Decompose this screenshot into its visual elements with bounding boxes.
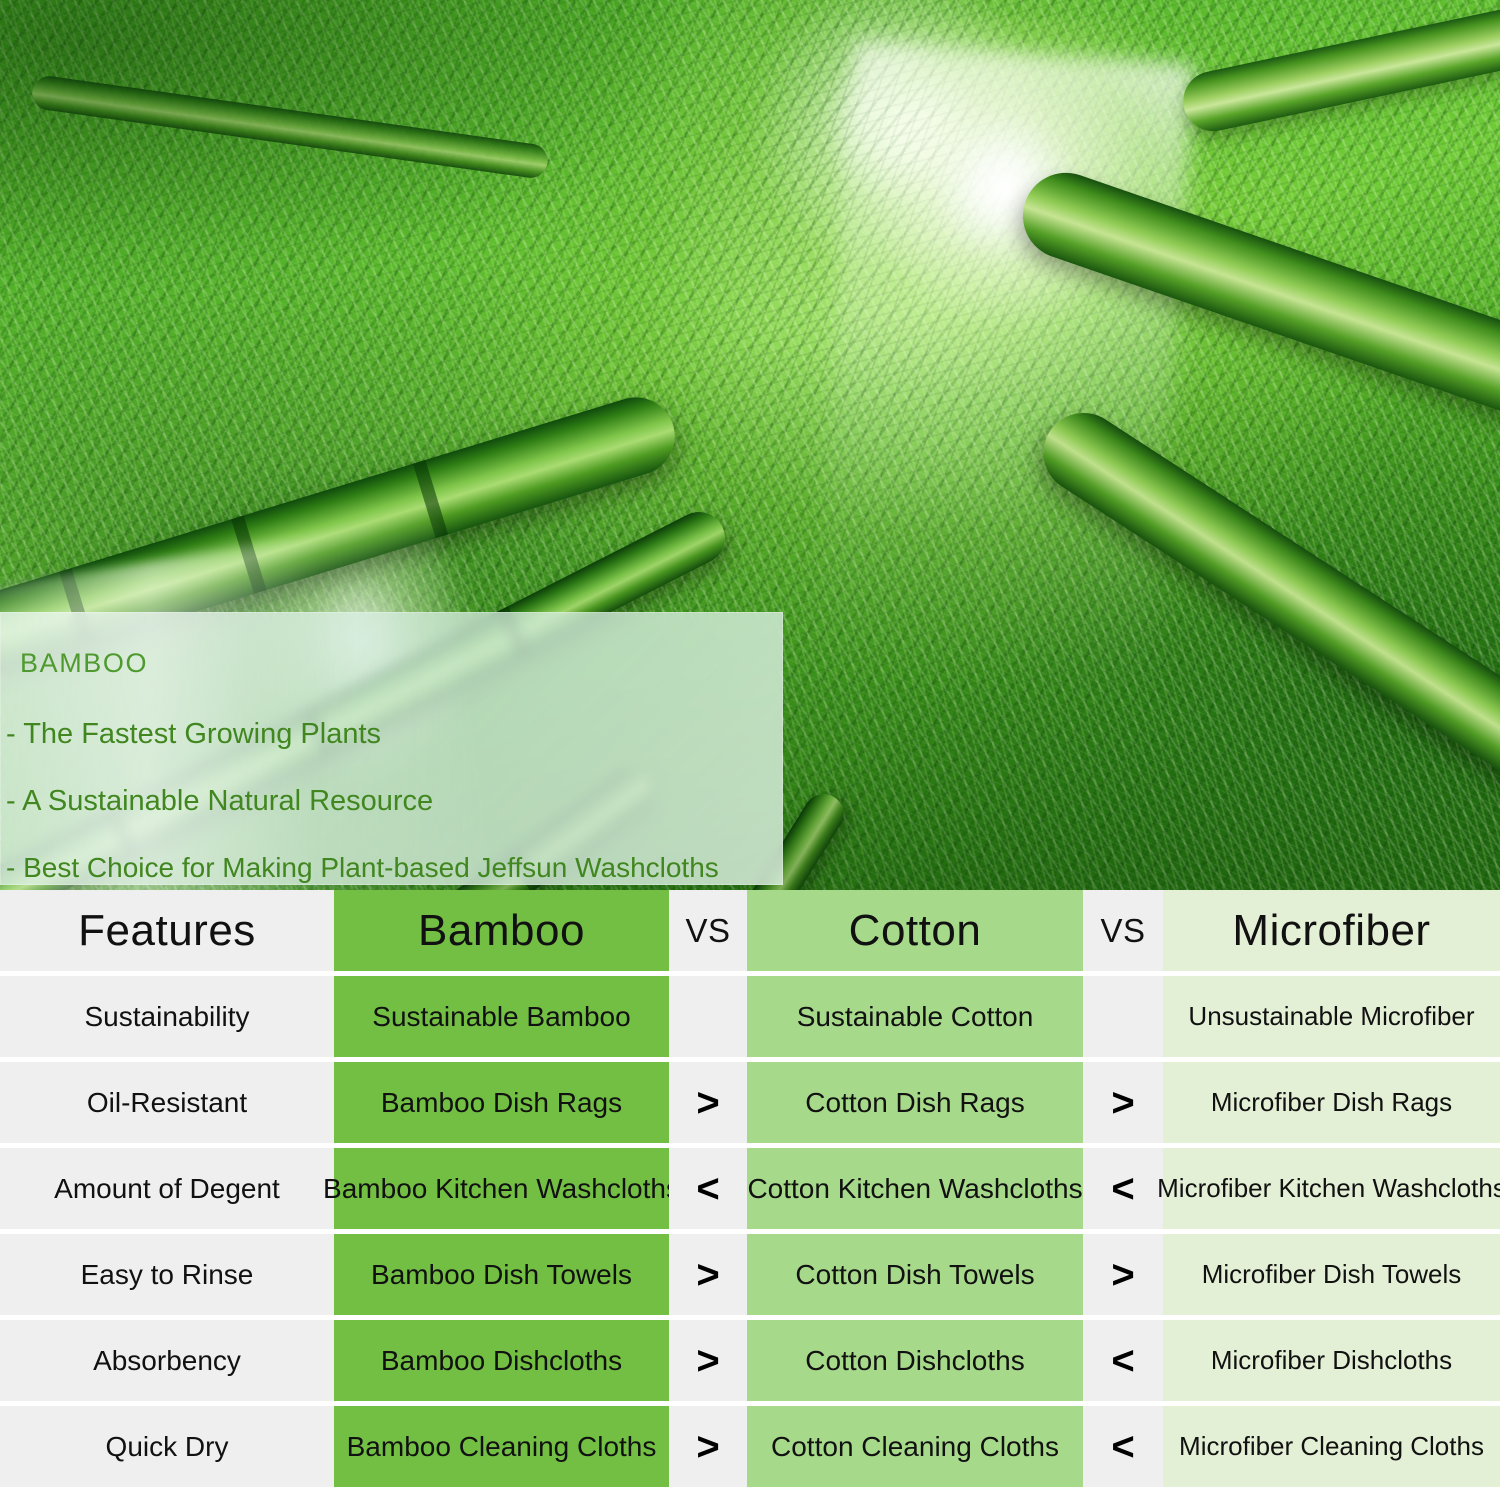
bamboo-forest-photo: BAMBOO - The Fastest Growing Plants - A … <box>0 0 1500 890</box>
cell-operator-1: > <box>669 1320 747 1401</box>
table-row: Amount of Degent Bamboo Kitchen Washclot… <box>0 1148 1500 1229</box>
table-header-row: Features Bamboo VS Cotton VS Microfiber <box>0 890 1500 971</box>
cell-bamboo: Bamboo Cleaning Cloths <box>334 1406 669 1487</box>
comparison-table: Features Bamboo VS Cotton VS Microfiber … <box>0 890 1500 1500</box>
microfiber-value: Microfiber Kitchen Washcloths <box>1157 1173 1500 1204</box>
table-row: Sustainability Sustainable Bamboo Sustai… <box>0 976 1500 1057</box>
header-label-cotton: Cotton <box>849 906 982 956</box>
header-label-vs-2: VS <box>1100 912 1145 950</box>
cell-operator-2 <box>1083 976 1163 1057</box>
bamboo-value: Bamboo Dish Rags <box>381 1087 622 1119</box>
comparison-operator-icon: > <box>1111 1255 1134 1295</box>
cell-bamboo: Bamboo Dishcloths <box>334 1320 669 1401</box>
feature-label: Absorbency <box>93 1345 241 1377</box>
cell-bamboo: Sustainable Bamboo <box>334 976 669 1057</box>
cell-feature: Sustainability <box>0 976 334 1057</box>
cell-microfiber: Microfiber Cleaning Cloths <box>1163 1406 1500 1487</box>
header-label-microfiber: Microfiber <box>1232 906 1430 956</box>
cotton-value: Cotton Dishcloths <box>805 1345 1024 1377</box>
overlay-title: BAMBOO <box>20 648 148 679</box>
header-cell-microfiber: Microfiber <box>1163 890 1500 971</box>
cotton-value: Cotton Cleaning Cloths <box>771 1431 1059 1463</box>
cell-microfiber: Unsustainable Microfiber <box>1163 976 1500 1057</box>
cell-operator-1: > <box>669 1406 747 1487</box>
cell-microfiber: Microfiber Dish Towels <box>1163 1234 1500 1315</box>
feature-label: Sustainability <box>85 1001 250 1033</box>
cell-operator-1: > <box>669 1234 747 1315</box>
table-row: Oil-Resistant Bamboo Dish Rags > Cotton … <box>0 1062 1500 1143</box>
product-infographic: BAMBOO - The Fastest Growing Plants - A … <box>0 0 1500 1500</box>
cell-operator-1 <box>669 976 747 1057</box>
header-label-vs-1: VS <box>685 912 730 950</box>
cell-operator-2: < <box>1083 1320 1163 1401</box>
cotton-value: Cotton Dish Towels <box>795 1259 1034 1291</box>
comparison-operator-icon: > <box>696 1255 719 1295</box>
overlay-bullet: - A Sustainable Natural Resource <box>2 787 780 816</box>
cell-feature: Easy to Rinse <box>0 1234 334 1315</box>
cell-operator-2: < <box>1083 1406 1163 1487</box>
table-row: Easy to Rinse Bamboo Dish Towels > Cotto… <box>0 1234 1500 1315</box>
comparison-operator-icon: > <box>696 1427 719 1467</box>
header-label-features: Features <box>78 906 256 956</box>
comparison-operator-icon: < <box>1111 1169 1134 1209</box>
bamboo-value: Bamboo Cleaning Cloths <box>347 1431 657 1463</box>
bamboo-info-overlay: BAMBOO - The Fastest Growing Plants - A … <box>0 612 783 885</box>
cell-operator-1: < <box>669 1148 747 1229</box>
cell-cotton: Sustainable Cotton <box>747 976 1083 1057</box>
cell-feature: Absorbency <box>0 1320 334 1401</box>
cell-microfiber: Microfiber Kitchen Washcloths <box>1163 1148 1500 1229</box>
cell-operator-2: > <box>1083 1062 1163 1143</box>
overlay-bullet-list: - The Fastest Growing Plants - A Sustain… <box>2 720 780 882</box>
overlay-bullet: - The Fastest Growing Plants <box>2 720 780 749</box>
bamboo-value: Bamboo Dishcloths <box>381 1345 622 1377</box>
cotton-value: Cotton Dish Rags <box>805 1087 1024 1119</box>
comparison-operator-icon: > <box>696 1083 719 1123</box>
header-cell-cotton: Cotton <box>747 890 1083 971</box>
cell-microfiber: Microfiber Dish Rags <box>1163 1062 1500 1143</box>
bamboo-value: Sustainable Bamboo <box>372 1001 630 1033</box>
cell-cotton: Cotton Dish Towels <box>747 1234 1083 1315</box>
cell-operator-2: < <box>1083 1148 1163 1229</box>
overlay-bullet: - Best Choice for Making Plant-based Jef… <box>2 854 780 882</box>
table-row: Absorbency Bamboo Dishcloths > Cotton Di… <box>0 1320 1500 1401</box>
cell-bamboo: Bamboo Dish Towels <box>334 1234 669 1315</box>
cell-feature: Quick Dry <box>0 1406 334 1487</box>
microfiber-value: Microfiber Dish Rags <box>1211 1087 1452 1118</box>
cotton-value: Sustainable Cotton <box>797 1001 1034 1033</box>
header-cell-bamboo: Bamboo <box>334 890 669 971</box>
cell-feature: Amount of Degent <box>0 1148 334 1229</box>
cell-bamboo: Bamboo Kitchen Washcloths <box>334 1148 669 1229</box>
cell-cotton: Cotton Dish Rags <box>747 1062 1083 1143</box>
cell-bamboo: Bamboo Dish Rags <box>334 1062 669 1143</box>
comparison-operator-icon: > <box>1111 1083 1134 1123</box>
comparison-operator-icon: < <box>696 1169 719 1209</box>
header-cell-vs-2: VS <box>1083 890 1163 971</box>
feature-label: Amount of Degent <box>54 1173 280 1205</box>
cell-operator-1: > <box>669 1062 747 1143</box>
header-label-bamboo: Bamboo <box>418 906 585 956</box>
table-row: Quick Dry Bamboo Cleaning Cloths > Cotto… <box>0 1406 1500 1487</box>
comparison-operator-icon: < <box>1111 1341 1134 1381</box>
microfiber-value: Microfiber Dishcloths <box>1211 1345 1452 1376</box>
feature-label: Quick Dry <box>106 1431 229 1463</box>
microfiber-value: Microfiber Cleaning Cloths <box>1179 1431 1484 1462</box>
microfiber-value: Microfiber Dish Towels <box>1202 1259 1462 1290</box>
microfiber-value: Unsustainable Microfiber <box>1188 1001 1474 1032</box>
comparison-operator-icon: < <box>1111 1427 1134 1467</box>
comparison-operator-icon: > <box>696 1341 719 1381</box>
cell-cotton: Cotton Kitchen Washcloths <box>747 1148 1083 1229</box>
bamboo-value: Bamboo Dish Towels <box>371 1259 632 1291</box>
cell-cotton: Cotton Dishcloths <box>747 1320 1083 1401</box>
header-cell-vs-1: VS <box>669 890 747 971</box>
cotton-value: Cotton Kitchen Washcloths <box>747 1173 1082 1205</box>
feature-label: Oil-Resistant <box>87 1087 247 1119</box>
feature-label: Easy to Rinse <box>81 1259 254 1291</box>
cell-microfiber: Microfiber Dishcloths <box>1163 1320 1500 1401</box>
bamboo-value: Bamboo Kitchen Washcloths <box>323 1173 680 1205</box>
header-cell-features: Features <box>0 890 334 971</box>
cell-operator-2: > <box>1083 1234 1163 1315</box>
cell-feature: Oil-Resistant <box>0 1062 334 1143</box>
cell-cotton: Cotton Cleaning Cloths <box>747 1406 1083 1487</box>
